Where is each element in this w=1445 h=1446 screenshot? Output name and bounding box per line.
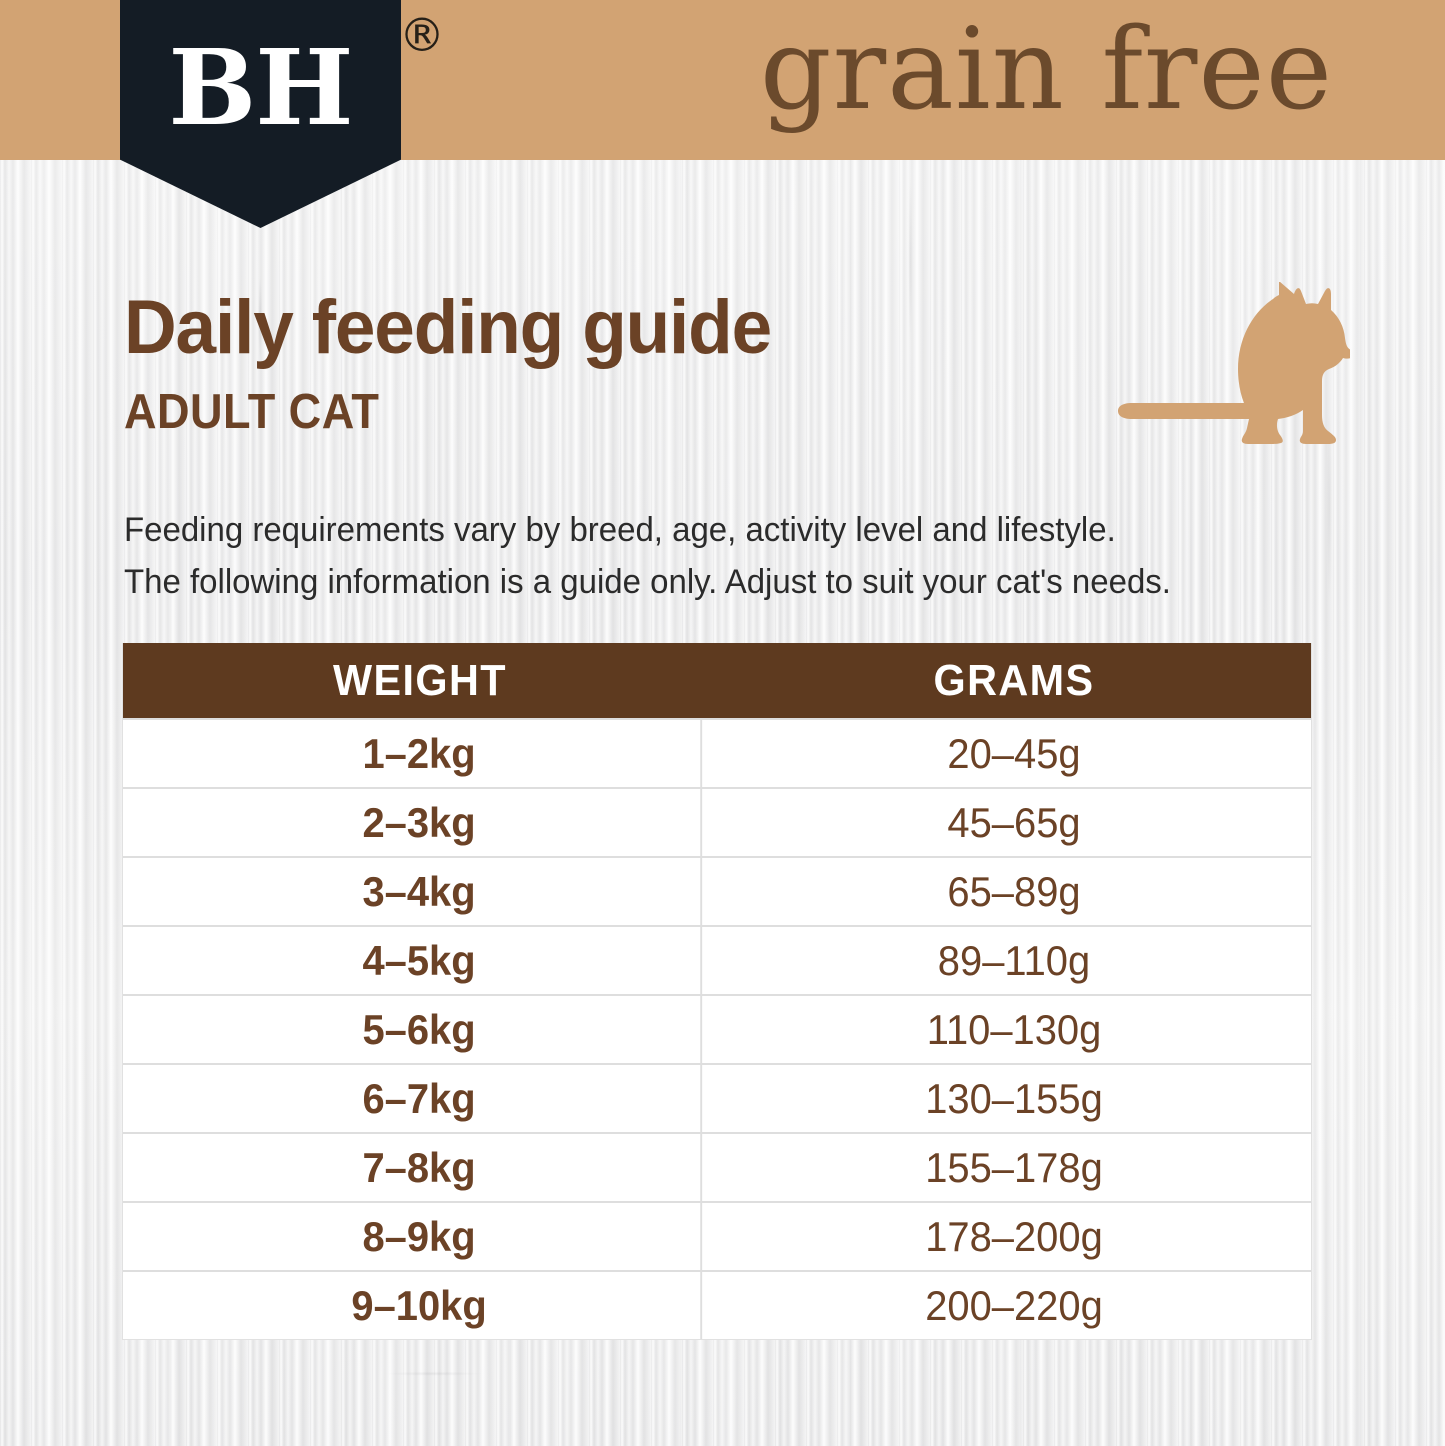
cell-grams: 20–45g bbox=[732, 720, 1296, 787]
cell-weight: 2–3kg bbox=[138, 789, 702, 856]
sitting-cat-silhouette-icon bbox=[1098, 282, 1350, 462]
column-header-weight: WEIGHT bbox=[141, 643, 699, 718]
cell-grams: 200–220g bbox=[732, 1272, 1296, 1339]
table-header-row: WEIGHT GRAMS bbox=[123, 643, 1311, 718]
cell-weight: 3–4kg bbox=[138, 858, 702, 925]
cell-grams: 89–110g bbox=[732, 927, 1296, 994]
table-row: 6–7kg 130–155g bbox=[123, 1063, 1311, 1132]
grain-free-tagline: grain free bbox=[760, 14, 1333, 126]
table-row: 2–3kg 45–65g bbox=[123, 787, 1311, 856]
heading-block: Daily feeding guide ADULT CAT bbox=[124, 290, 798, 437]
table-row: 4–5kg 89–110g bbox=[123, 925, 1311, 994]
cell-weight: 6–7kg bbox=[138, 1065, 702, 1132]
page-title: Daily feeding guide bbox=[124, 290, 771, 366]
column-header-grams: GRAMS bbox=[735, 643, 1293, 718]
intro-line-2: The following information is a guide onl… bbox=[124, 557, 1317, 609]
cell-grams: 65–89g bbox=[732, 858, 1296, 925]
bh-shield-logo: BH bbox=[120, 0, 401, 228]
intro-paragraph: Feeding requirements vary by breed, age,… bbox=[124, 505, 1317, 608]
cell-weight: 9–10kg bbox=[138, 1272, 702, 1339]
cell-weight: 8–9kg bbox=[138, 1203, 702, 1270]
feeding-guide-page: grain free BH ® Daily feeding guide ADUL… bbox=[0, 0, 1445, 1446]
page-subtitle: ADULT CAT bbox=[124, 388, 744, 437]
table-row: 3–4kg 65–89g bbox=[123, 856, 1311, 925]
table-row: 7–8kg 155–178g bbox=[123, 1132, 1311, 1201]
cell-weight: 1–2kg bbox=[138, 720, 702, 787]
table-row: 1–2kg 20–45g bbox=[123, 718, 1311, 787]
cell-weight: 7–8kg bbox=[138, 1134, 702, 1201]
cell-grams: 130–155g bbox=[732, 1065, 1296, 1132]
bh-logo-text: BH bbox=[168, 36, 352, 140]
feeding-guide-table: WEIGHT GRAMS 1–2kg 20–45g 2–3kg 45–65g 3… bbox=[122, 643, 1312, 1340]
registered-trademark-icon: ® bbox=[399, 12, 445, 58]
cell-grams: 178–200g bbox=[732, 1203, 1296, 1270]
table-row: 5–6kg 110–130g bbox=[123, 994, 1311, 1063]
cell-weight: 5–6kg bbox=[138, 996, 702, 1063]
table-row: 9–10kg 200–220g bbox=[123, 1270, 1311, 1339]
cell-grams: 45–65g bbox=[732, 789, 1296, 856]
cell-weight: 4–5kg bbox=[138, 927, 702, 994]
cell-grams: 155–178g bbox=[732, 1134, 1296, 1201]
cell-grams: 110–130g bbox=[732, 996, 1296, 1063]
intro-line-1: Feeding requirements vary by breed, age,… bbox=[124, 505, 1317, 557]
table-row: 8–9kg 178–200g bbox=[123, 1201, 1311, 1270]
